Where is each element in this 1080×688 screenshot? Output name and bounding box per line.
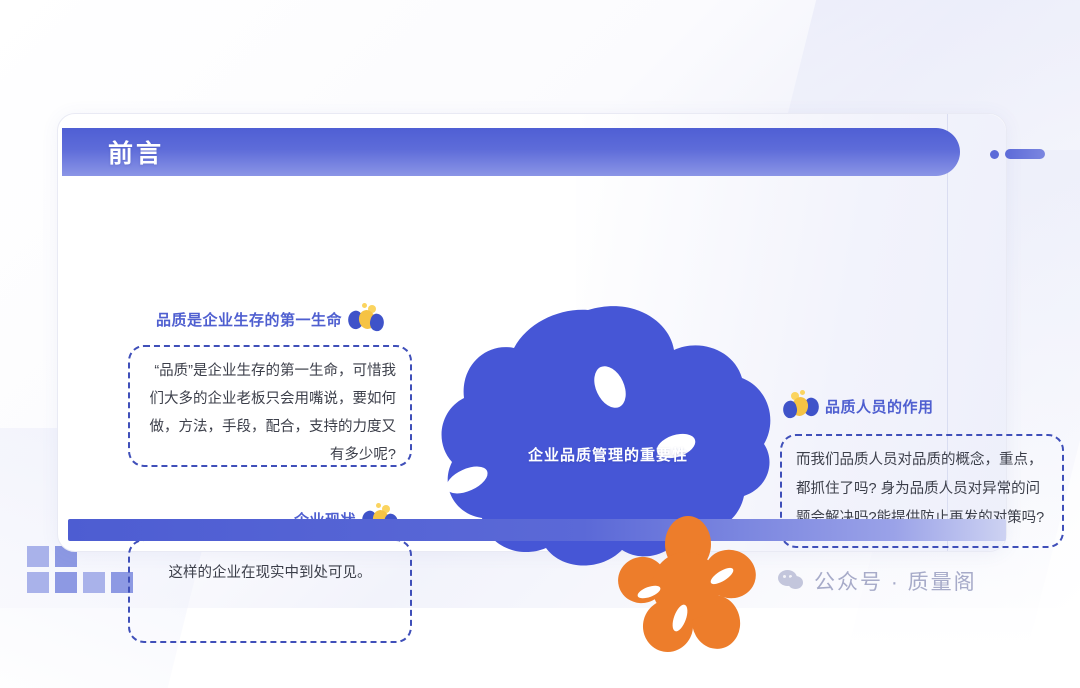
text-box-body: “品质”是企业生存的第一生命，可惜我们大多的企业老板只会用嘴说，要如何做，方法，… [144,357,396,469]
decorative-square [83,572,105,593]
slide-card: 前言 企业品质管理的重要性 [57,113,1007,552]
watermark: 公众号 · 质量阁 [778,566,977,596]
section-heading-label: 品质人员的作用 [825,396,934,417]
section-heading-quality-staff-role: 品质人员的作用 [783,392,934,420]
header-pill-decoration [1005,149,1045,159]
card-bottom-bar [68,519,1006,541]
flower-svg [618,514,758,654]
butterfly-icon [783,392,819,420]
wechat-icon [778,570,804,592]
text-box-body: 这样的企业在现实中到处可见。 [144,559,396,587]
decorative-square [27,546,49,567]
section-heading-label: 品质是企业生存的第一生命 [156,309,342,330]
watermark-text: 公众号 · 质量阁 [814,566,977,596]
decorative-square [27,572,49,593]
orange-flower-graphic [618,514,758,654]
decorative-squares [27,546,137,594]
text-box-quality-first-life: “品质”是企业生存的第一生命，可惜我们大多的企业老板只会用嘴说，要如何做，方法，… [128,345,412,467]
text-box-current-situation: 这样的企业在现实中到处可见。 [128,539,412,643]
slide-background: 前言 企业品质管理的重要性 [0,0,1080,608]
section-heading-quality-first-life: 品质是企业生存的第一生命 [156,305,384,333]
page-title: 前言 [108,134,164,170]
decorative-square [55,572,77,593]
butterfly-icon [348,305,384,333]
blob-label: 企业品质管理的重要性 [438,444,778,465]
header-dot-decoration [990,150,999,159]
section-title-bar: 前言 [62,128,960,176]
